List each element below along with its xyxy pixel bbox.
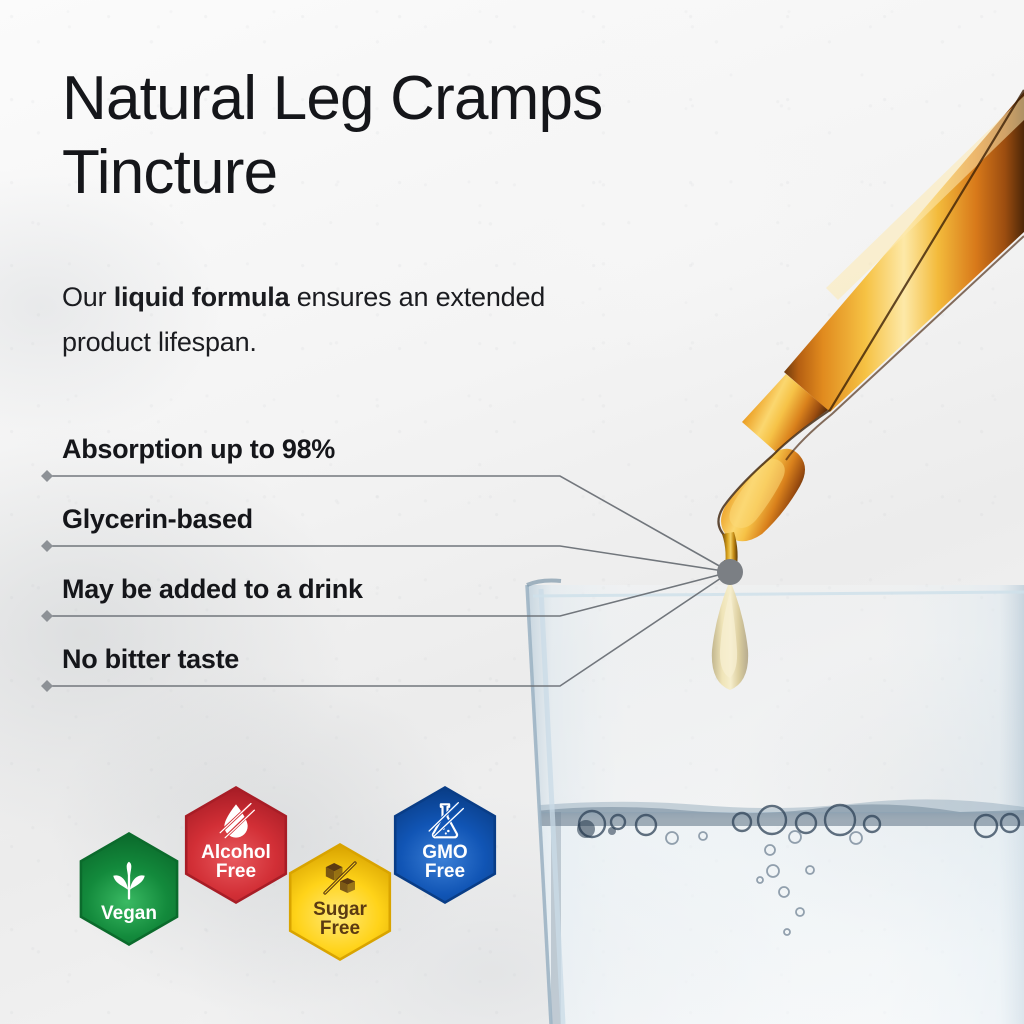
- product-infographic: Natural Leg Cramps Tincture Our liquid f…: [0, 0, 1024, 1024]
- feature-item-add-to-drink: May be added to a drink: [62, 574, 363, 605]
- flask-slash-icon: [425, 801, 465, 841]
- badge-gmo-free-label: GMO Free: [422, 843, 467, 883]
- feature-item-absorption: Absorption up to 98%: [62, 434, 335, 465]
- badge-sugar-free-label: Sugar Free: [313, 900, 367, 940]
- feature-item-glycerin: Glycerin-based: [62, 504, 253, 535]
- badge-vegan-label: Vegan: [101, 904, 157, 924]
- leaf-icon: [108, 860, 150, 902]
- sugar-cubes-slash-icon: [320, 858, 360, 898]
- droplet-slash-icon: [216, 801, 256, 841]
- badge-alcohol-free-label: Alcohol Free: [201, 843, 271, 883]
- feature-item-no-bitter-taste: No bitter taste: [62, 644, 239, 675]
